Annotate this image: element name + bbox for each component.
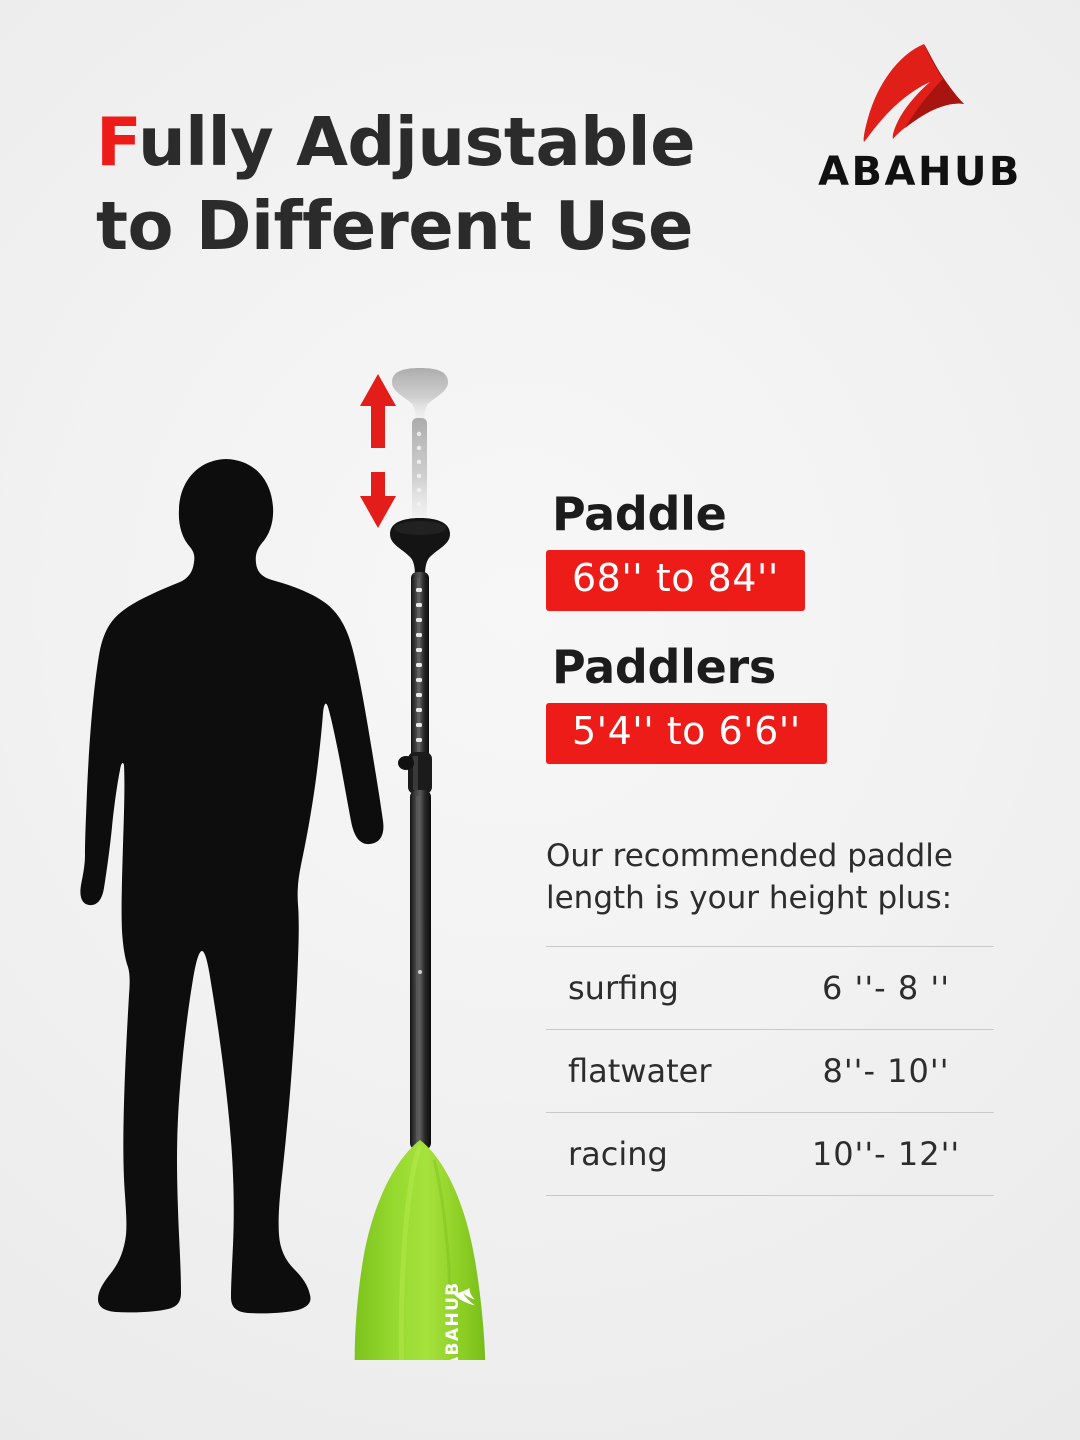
headline-drop-cap: F — [96, 103, 138, 181]
recommendation-line-2: length is your height plus: — [546, 880, 952, 916]
table-cell-activity: racing — [546, 1135, 778, 1173]
table-cell-extra-length: 8''- 10'' — [778, 1052, 994, 1090]
paddle-upper-shaft — [411, 572, 429, 762]
paddle-extension-ghost — [392, 368, 448, 528]
arrow-up-icon — [360, 374, 396, 448]
arrow-down-icon — [360, 472, 396, 528]
paddle-lower-shaft — [410, 790, 431, 1150]
abahub-swoosh-icon — [812, 36, 1028, 148]
table-cell-extra-length: 6 ''- 8 '' — [778, 969, 994, 1007]
headline-line-2: to Different Use — [96, 187, 693, 265]
paddle-blade: ABAHUB — [355, 1140, 486, 1360]
brand-logo: ABAHUB — [812, 36, 1028, 192]
spec-title-paddlers: Paddlers — [546, 643, 1016, 691]
table-row: racing 10''- 12'' — [546, 1113, 994, 1195]
spec-badge-paddler-height: 5'4'' to 6'6'' — [546, 703, 827, 764]
recommendation-line-1: Our recommended paddle — [546, 838, 953, 874]
table-row: flatwater 8''- 10'' — [546, 1030, 994, 1112]
paddle-clamp-collar — [398, 752, 432, 794]
spec-badge-paddle-length: 68'' to 84'' — [546, 550, 805, 611]
page-title: Fully Adjustable to Different Use — [96, 100, 736, 269]
headline-line-1: ully Adjustable — [138, 103, 695, 181]
specs-panel: Paddle 68'' to 84'' Paddlers 5'4'' to 6'… — [546, 490, 1016, 1196]
recommendation-text: Our recommended paddle length is your he… — [546, 836, 1016, 920]
adjustment-arrows — [356, 372, 400, 530]
table-cell-activity: surfing — [546, 969, 778, 1007]
spec-title-paddle: Paddle — [546, 490, 1016, 538]
table-divider — [546, 1195, 994, 1196]
recommendation-table: surfing 6 ''- 8 '' flatwater 8''- 10'' r… — [546, 946, 994, 1196]
table-row: surfing 6 ''- 8 '' — [546, 947, 994, 1029]
infographic-canvas: Fully Adjustable to Different Use ABAHUB — [0, 0, 1080, 1440]
table-cell-activity: flatwater — [546, 1052, 778, 1090]
table-cell-extra-length: 10''- 12'' — [778, 1135, 994, 1173]
brand-wordmark: ABAHUB — [812, 152, 1028, 192]
